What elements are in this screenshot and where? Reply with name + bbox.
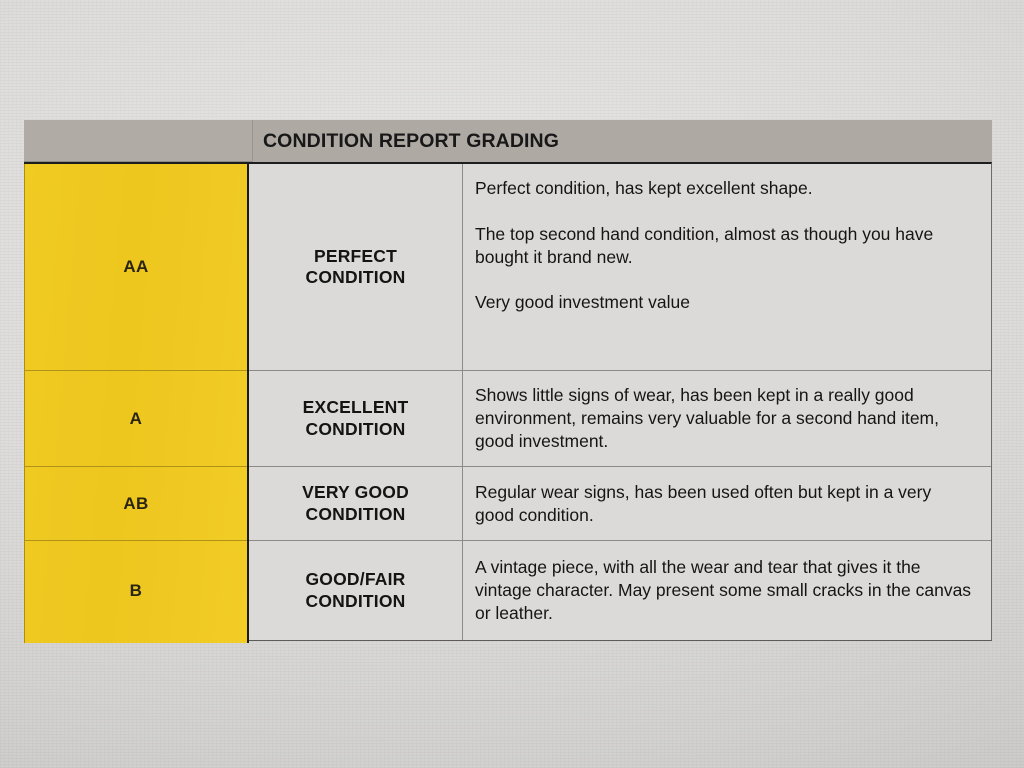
condition-label-ab-line2: CONDITION — [305, 504, 405, 524]
table-header-spacer — [24, 120, 252, 162]
condition-label-ab: VERY GOOD CONDITION — [302, 482, 409, 525]
condition-label-b-line1: GOOD/FAIR — [306, 569, 406, 589]
condition-label-b-line2: CONDITION — [306, 591, 406, 611]
description-cell-ab: Regular wear signs, has been used often … — [463, 467, 991, 540]
grade-label-b: B — [130, 581, 143, 601]
table-header-title-cell: CONDITION REPORT GRADING — [252, 120, 992, 162]
condition-cell-a: EXCELLENT CONDITION — [249, 371, 463, 466]
description-paragraph: Regular wear signs, has been used often … — [475, 481, 973, 527]
condition-label-ab-line1: VERY GOOD — [302, 482, 409, 502]
description-cell-b: A vintage piece, with all the wear and t… — [463, 541, 991, 640]
grade-label-ab: AB — [123, 494, 148, 514]
condition-label-a-line2: CONDITION — [306, 419, 406, 439]
grade-cell-a: A — [25, 371, 247, 467]
description-paragraph: Very good investment value — [475, 291, 973, 314]
table-row: PERFECT CONDITION Perfect condition, has… — [249, 164, 991, 371]
condition-cell-aa: PERFECT CONDITION — [249, 164, 463, 370]
grade-cell-aa: AA — [25, 164, 247, 371]
grade-column: AA A AB B — [24, 164, 249, 643]
grade-label-a: A — [130, 409, 143, 429]
condition-label-a: EXCELLENT CONDITION — [303, 397, 409, 440]
condition-label-aa-line2: CONDITION — [306, 267, 406, 287]
page-title: CONDITION REPORT GRADING — [263, 130, 559, 153]
table-row: VERY GOOD CONDITION Regular wear signs, … — [249, 467, 991, 541]
description-paragraph: Perfect condition, has kept excellent sh… — [475, 177, 973, 200]
description-cell-a: Shows little signs of wear, has been kep… — [463, 371, 991, 466]
description-paragraph: A vintage piece, with all the wear and t… — [475, 556, 973, 624]
condition-cell-b: GOOD/FAIR CONDITION — [249, 541, 463, 640]
condition-label-aa: PERFECT CONDITION — [306, 246, 406, 289]
table-row: GOOD/FAIR CONDITION A vintage piece, wit… — [249, 541, 991, 640]
condition-label-aa-line1: PERFECT — [314, 246, 397, 266]
table-body: AA A AB B PERFECT CONDITION — [24, 162, 992, 641]
grade-cell-ab: AB — [25, 467, 247, 541]
description-cell-aa: Perfect condition, has kept excellent sh… — [463, 164, 991, 370]
table-row: EXCELLENT CONDITION Shows little signs o… — [249, 371, 991, 467]
table-rows-column: PERFECT CONDITION Perfect condition, has… — [249, 164, 991, 640]
grade-cell-b: B — [25, 541, 247, 640]
condition-report-grading-table: CONDITION REPORT GRADING AA A AB B PERFE… — [24, 120, 992, 641]
grade-label-aa: AA — [123, 257, 148, 277]
condition-cell-ab: VERY GOOD CONDITION — [249, 467, 463, 540]
condition-label-a-line1: EXCELLENT — [303, 397, 409, 417]
description-paragraph: Shows little signs of wear, has been kep… — [475, 384, 973, 452]
table-header-row: CONDITION REPORT GRADING — [24, 120, 992, 162]
condition-label-b: GOOD/FAIR CONDITION — [306, 569, 406, 612]
description-paragraph: The top second hand condition, almost as… — [475, 223, 973, 269]
